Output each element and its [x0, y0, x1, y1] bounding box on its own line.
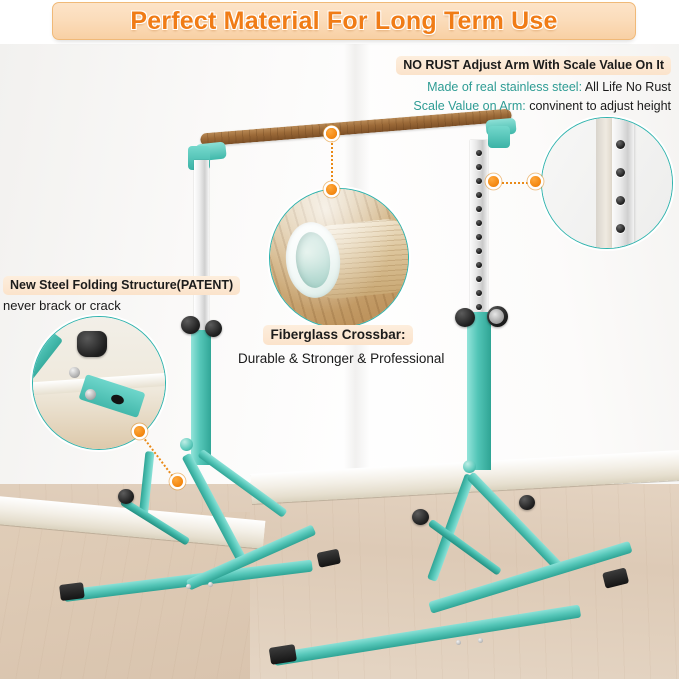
- callout-fiberglass-sub: Durable & Stronger & Professional: [238, 351, 438, 366]
- steel-folding-joint-closeup-photo: [32, 316, 166, 450]
- crossbar-bracket-right: [488, 126, 510, 148]
- inset-arm-hole: [616, 224, 625, 233]
- callout-no-rust-line1-lead: Made of real stainless steel:: [427, 80, 582, 94]
- adjust-arm-hole: [476, 220, 482, 226]
- callout-no-rust: NO RUST Adjust Arm With Scale Value On I…: [396, 56, 671, 113]
- marker-fold-inset: [134, 426, 145, 437]
- marker-crossbar: [326, 128, 337, 139]
- frame-screw: [478, 638, 483, 643]
- adjust-arm-hole: [476, 150, 482, 156]
- scale-value-dial[interactable]: [489, 309, 504, 324]
- folding-knob-left[interactable]: [118, 489, 134, 504]
- callout-no-rust-line2: Scale Value on Arm: convinent to adjust …: [396, 99, 671, 113]
- frame-joint-right-top: [463, 460, 476, 473]
- folding-knob-right-rear[interactable]: [519, 495, 535, 510]
- base-end-cap-left-front: [59, 582, 85, 601]
- callout-folding-heading: New Steel Folding Structure(PATENT): [3, 276, 240, 295]
- adjust-arm-hole: [476, 276, 482, 282]
- height-adjust-knob-left-b[interactable]: [205, 320, 222, 337]
- frame-screw: [208, 582, 213, 587]
- inset-arm-hole: [616, 140, 625, 149]
- inset-arm-hole: [616, 168, 625, 177]
- marker-fiberglass-inset: [326, 184, 337, 195]
- frame-screw: [456, 640, 461, 645]
- marker-adjust-arm: [488, 176, 499, 187]
- folding-knob-right[interactable]: [412, 509, 429, 525]
- infographic-canvas: Perfect Material For Long Term Use: [0, 0, 679, 679]
- adjust-arm-hole: [476, 234, 482, 240]
- marker-adjust-arm-inset: [530, 176, 541, 187]
- callout-no-rust-line2-rest: convinent to adjust height: [526, 99, 671, 113]
- adjust-arm-hole: [476, 290, 482, 296]
- adjust-arm-hole: [476, 304, 482, 310]
- adjust-arm-hole: [476, 206, 482, 212]
- page-title: Perfect Material For Long Term Use: [130, 7, 557, 36]
- height-adjust-knob-right-a[interactable]: [455, 308, 475, 327]
- adjust-arm-hole: [476, 164, 482, 170]
- fiberglass-crossbar-cutaway-photo: [269, 188, 409, 328]
- upright-post-left-steel: [194, 160, 209, 340]
- callout-no-rust-heading: NO RUST Adjust Arm With Scale Value On I…: [396, 56, 671, 75]
- frame-screw: [186, 584, 191, 589]
- adjust-arm-hole: [476, 262, 482, 268]
- inset-arm-hole: [616, 196, 625, 205]
- callout-no-rust-line2-lead: Scale Value on Arm:: [413, 99, 525, 113]
- title-banner: Perfect Material For Long Term Use: [52, 2, 636, 40]
- inset-fold-bolt: [69, 367, 80, 378]
- callout-fiberglass-heading: Fiberglass Crossbar:: [263, 325, 412, 345]
- inset-fold-bolt: [85, 389, 96, 400]
- stainless-adjust-arm-closeup-photo: [541, 117, 673, 249]
- callout-folding-structure: New Steel Folding Structure(PATENT) neve…: [3, 276, 240, 313]
- marker-folding-joint: [172, 476, 183, 487]
- callout-no-rust-line1: Made of real stainless steel: All Life N…: [396, 80, 671, 94]
- callout-folding-sub: never brack or crack: [3, 298, 240, 313]
- upright-post-right-sleeve: [467, 312, 491, 470]
- adjust-arm-hole: [476, 248, 482, 254]
- upright-post-left-sleeve: [191, 330, 211, 465]
- adjust-arm-hole: [476, 192, 482, 198]
- inset-fold-knob: [77, 331, 107, 357]
- height-adjust-knob-left-a[interactable]: [181, 316, 200, 334]
- adjust-arm-hole: [476, 178, 482, 184]
- inset-gloss-overlay: [270, 189, 408, 327]
- frame-joint-left-top: [180, 438, 193, 451]
- callout-fiberglass-crossbar: Fiberglass Crossbar: Durable & Stronger …: [238, 325, 438, 366]
- callout-no-rust-line1-rest: All Life No Rust: [582, 80, 671, 94]
